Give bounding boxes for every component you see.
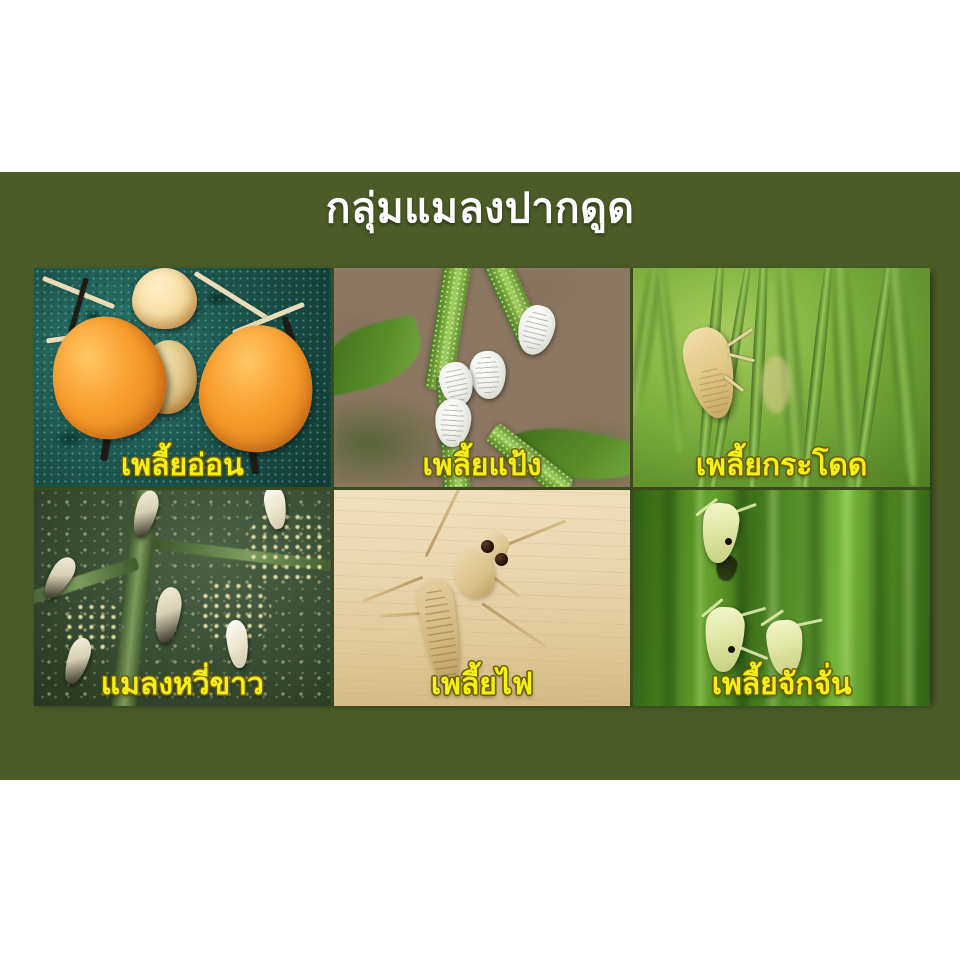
leafhopper-2-eye xyxy=(728,646,735,653)
page-title: กลุ่มแมลงปากดูด xyxy=(0,186,960,231)
thrips-eye-left xyxy=(481,540,494,553)
caption-aphid: เพลี้ยอ่อน xyxy=(34,449,331,484)
caption-leafhopper: เพลี้ยจักจั่น xyxy=(633,668,930,703)
insect-photo-grid: เพลี้ยอ่อน เพลี้ยแป้ง xyxy=(34,268,930,703)
photo-cell-aphid[interactable]: เพลี้ยอ่อน xyxy=(34,268,331,487)
photo-cell-leafhopper[interactable]: เพลี้ยจักจั่น xyxy=(633,490,930,706)
caption-planthopper: เพลี้ยกระโดด xyxy=(633,449,930,484)
caption-mealybug: เพลี้ยแป้ง xyxy=(334,449,631,484)
photo-cell-mealybug[interactable]: เพลี้ยแป้ง xyxy=(334,268,631,487)
photo-cell-thrips[interactable]: เพลี้ยไฟ xyxy=(334,490,631,706)
caption-thrips: เพลี้ยไฟ xyxy=(334,668,631,703)
photo-cell-planthopper[interactable]: เพลี้ยกระโดด xyxy=(633,268,930,487)
poster-band: กลุ่มแมลงปากดูด xyxy=(0,172,960,780)
caption-whitefly: แมลงหวี่ขาว xyxy=(34,668,331,703)
thrips-eye-right xyxy=(495,553,508,566)
aphid-nymph-top xyxy=(132,268,197,329)
poster-page: กลุ่มแมลงปากดูด xyxy=(0,0,960,960)
photo-cell-whitefly[interactable]: แมลงหวี่ขาว xyxy=(34,490,331,706)
planthopper-blurred xyxy=(761,356,791,413)
leafhopper-1-eye xyxy=(725,538,732,545)
